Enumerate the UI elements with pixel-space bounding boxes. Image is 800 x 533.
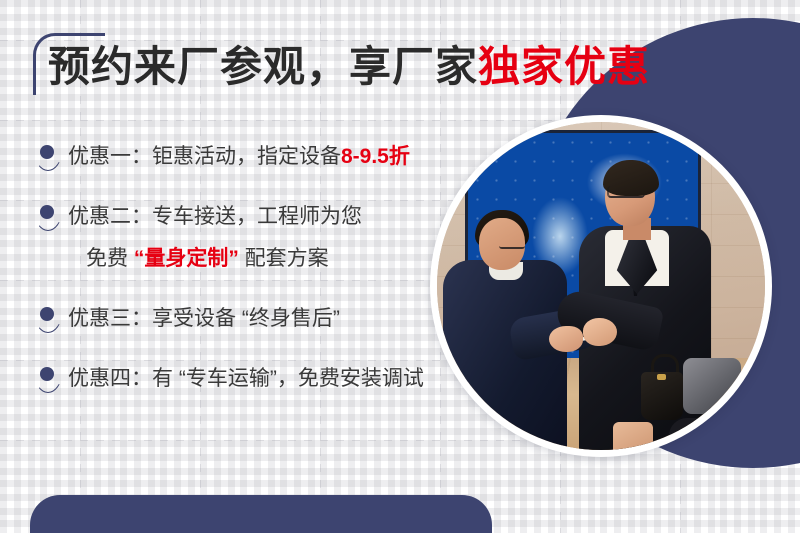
grey-bag — [683, 358, 741, 414]
benefit-line-1: 优惠三：享受设备 “终身售后” — [28, 298, 458, 340]
bullet-marker-icon — [32, 205, 62, 231]
list-item: 优惠四：有 “专车运输”，免费安装调试 — [28, 358, 458, 400]
photo-scene: ing United ited P — [437, 122, 765, 450]
bullet-arc-icon — [34, 373, 62, 393]
bullet-marker-icon — [32, 145, 62, 171]
benefit-text: 免费 — [86, 247, 134, 270]
photo-ring: ing United ited P — [430, 115, 772, 457]
benefit-line-1: 优惠一：钜惠活动，指定设备8-9.5折 — [28, 136, 458, 178]
person-left-glasses-icon — [499, 238, 525, 249]
circular-photo: ing United ited P — [437, 122, 765, 450]
benefit-text-suffix: 配套方案 — [239, 247, 329, 270]
page-title: 预约来厂参观，享厂家独家优惠 — [48, 44, 650, 90]
promo-banner: ing United ited P — [0, 0, 800, 533]
list-item: 优惠三：享受设备 “终身售后” — [28, 298, 458, 340]
benefit-text: 优惠三：享受设备 “终身售后” — [68, 307, 340, 330]
person-right-glasses-icon — [607, 186, 645, 198]
benefit-text: 优惠四：有 “专车运输”，免费安装调试 — [68, 367, 424, 390]
handshake-hand-right — [549, 326, 583, 352]
list-item: 优惠二：专车接送，工程师为您 免费 “量身定制” 配套方案 — [28, 196, 458, 280]
person-shoe — [669, 418, 715, 450]
handshake-hand-left — [583, 318, 617, 346]
bullet-marker-icon — [32, 367, 62, 393]
bottom-navy-bar — [30, 495, 492, 533]
benefit-text: 优惠二：专车接送，工程师为您 — [68, 205, 362, 228]
benefit-text: 优惠一：钜惠活动，指定设备 — [68, 145, 341, 168]
benefit-highlight: “量身定制” — [134, 247, 239, 270]
list-item: 优惠一：钜惠活动，指定设备8-9.5折 — [28, 136, 458, 178]
person-leg — [613, 422, 653, 450]
benefit-line-2: 免费 “量身定制” 配套方案 — [28, 238, 458, 280]
title-plain-text: 预约来厂参观，享厂家 — [48, 43, 478, 90]
bullet-arc-icon — [34, 313, 62, 333]
benefit-line-1: 优惠四：有 “专车运输”，免费安装调试 — [28, 358, 458, 400]
title-highlight-text: 独家优惠 — [478, 43, 650, 90]
benefit-list: 优惠一：钜惠活动，指定设备8-9.5折 优惠二：专车接送，工程师为您 免费 “量… — [28, 136, 458, 418]
handbag-clasp-icon — [657, 374, 666, 380]
benefit-highlight: 8-9.5折 — [341, 145, 410, 168]
benefit-line-1: 优惠二：专车接送，工程师为您 — [28, 196, 458, 238]
bullet-arc-icon — [34, 211, 62, 231]
bullet-marker-icon — [32, 307, 62, 333]
bullet-arc-icon — [34, 151, 62, 171]
